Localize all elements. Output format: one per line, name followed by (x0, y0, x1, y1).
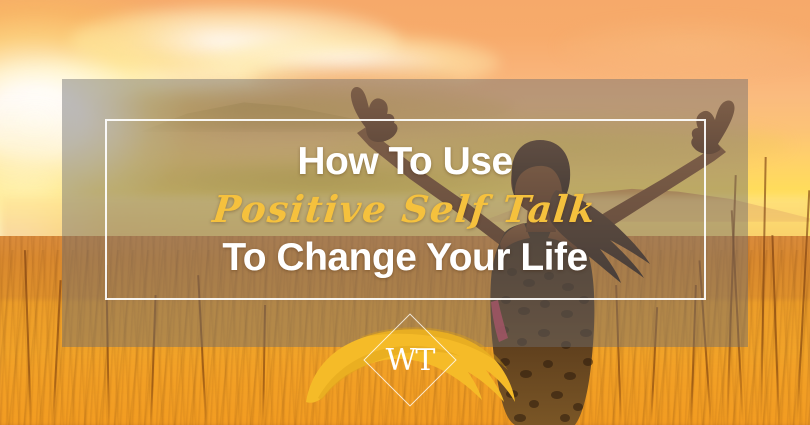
logo-monogram: WT (296, 310, 524, 410)
overlay-frame-border (105, 119, 706, 300)
brand-logo: WT (296, 312, 524, 412)
featured-image-banner: How To Use Positive Self Talk To Change … (0, 0, 810, 425)
